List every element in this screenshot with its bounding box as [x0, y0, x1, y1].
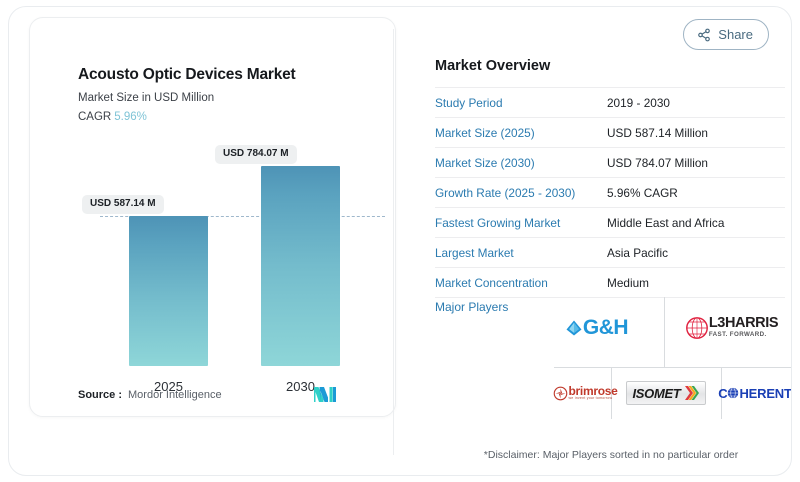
row-value: Middle East and Africa — [607, 216, 724, 230]
l3harris-tagline: FAST. FORWARD. — [709, 332, 778, 339]
gh-diamond-icon — [565, 319, 583, 337]
row-key: Market Size (2025) — [435, 126, 607, 140]
l3harris-text-block: L3HARRIS FAST. FORWARD. — [709, 316, 778, 339]
market-overview-panel: Market Overview Study Period 2019 - 2030… — [419, 7, 792, 476]
bar-chart-plot: USD 587.14 M USD 784.07 M 2025 2030 — [50, 138, 395, 378]
data-label-2030: USD 784.07 M — [215, 145, 297, 164]
table-row: Largest Market Asia Pacific — [435, 238, 785, 268]
isomet-logo-text: ISOMET — [632, 386, 680, 401]
row-key: Largest Market — [435, 246, 607, 260]
table-row: Growth Rate (2025 - 2030) 5.96% CAGR — [435, 178, 785, 208]
source-value: Mordor Intelligence — [128, 389, 222, 401]
row-key: Growth Rate (2025 - 2030) — [435, 186, 607, 200]
table-row: Market Size (2025) USD 587.14 Million — [435, 118, 785, 148]
brimrose-mark-icon — [553, 386, 568, 401]
disclaimer-text: *Disclaimer: Major Players sorted in no … — [431, 449, 791, 461]
gh-logo: G&H — [529, 295, 664, 360]
source-label: Source : — [78, 389, 122, 401]
gh-logo-text: G&H — [583, 316, 628, 340]
row-value: Asia Pacific — [607, 246, 668, 260]
coherent-letter-c: C — [718, 386, 727, 401]
table-row: Fastest Growing Market Middle East and A… — [435, 208, 785, 238]
coherent-globe-icon — [727, 387, 739, 399]
market-snapshot-page: Acousto Optic Devices Market Market Size… — [0, 0, 800, 482]
market-overview-table: Study Period 2019 - 2030 Market Size (20… — [435, 87, 785, 298]
isomet-chevron-icon — [684, 385, 700, 401]
row-key: Study Period — [435, 96, 607, 110]
row-key: Market Concentration — [435, 276, 607, 290]
coherent-logo-text-block: C HERENT — [718, 386, 791, 401]
cagr-value: 5.96% — [114, 111, 147, 123]
major-players-title: Major Players — [435, 300, 508, 314]
row-value: USD 587.14 Million — [607, 126, 708, 140]
l3harris-logo: L3HARRIS FAST. FORWARD. — [664, 295, 792, 360]
row-key: Market Size (2030) — [435, 156, 607, 170]
l3harris-globe-icon — [685, 316, 709, 340]
panel-divider — [393, 29, 394, 455]
table-row: Market Size (2030) USD 784.07 Million — [435, 148, 785, 178]
bar-2030[interactable] — [261, 166, 340, 366]
chart-card: Acousto Optic Devices Market Market Size… — [29, 17, 396, 417]
l3harris-logo-text: L3HARRIS — [709, 316, 778, 331]
table-row: Market Concentration Medium — [435, 268, 785, 298]
cagr-label: CAGR — [78, 111, 111, 123]
major-players-logos: G&H L3HARRIS FAST. FORWARD. — [529, 295, 792, 425]
chart-footer: Source : Mordor Intelligence — [78, 387, 358, 402]
coherent-logo-text: HERENT — [739, 386, 791, 401]
bar-2025[interactable] — [129, 216, 208, 366]
table-row: Study Period 2019 - 2030 — [435, 87, 785, 118]
chart-cagr: CAGR5.96% — [78, 111, 147, 123]
outer-card: Acousto Optic Devices Market Market Size… — [8, 6, 792, 476]
row-value: Medium — [607, 276, 649, 290]
isomet-logo-box: ISOMET — [626, 381, 705, 405]
coherent-logo: C HERENT — [701, 362, 792, 424]
row-value: 5.96% CAGR — [607, 186, 678, 200]
row-value: 2019 - 2030 — [607, 96, 670, 110]
mordor-intelligence-logo — [314, 387, 336, 402]
chart-subtitle: Market Size in USD Million — [78, 92, 214, 104]
data-label-2025: USD 587.14 M — [82, 195, 164, 214]
market-overview-title: Market Overview — [435, 58, 550, 74]
row-key: Fastest Growing Market — [435, 216, 607, 230]
chart-title: Acousto Optic Devices Market — [78, 66, 296, 84]
row-value: USD 784.07 Million — [607, 156, 708, 170]
